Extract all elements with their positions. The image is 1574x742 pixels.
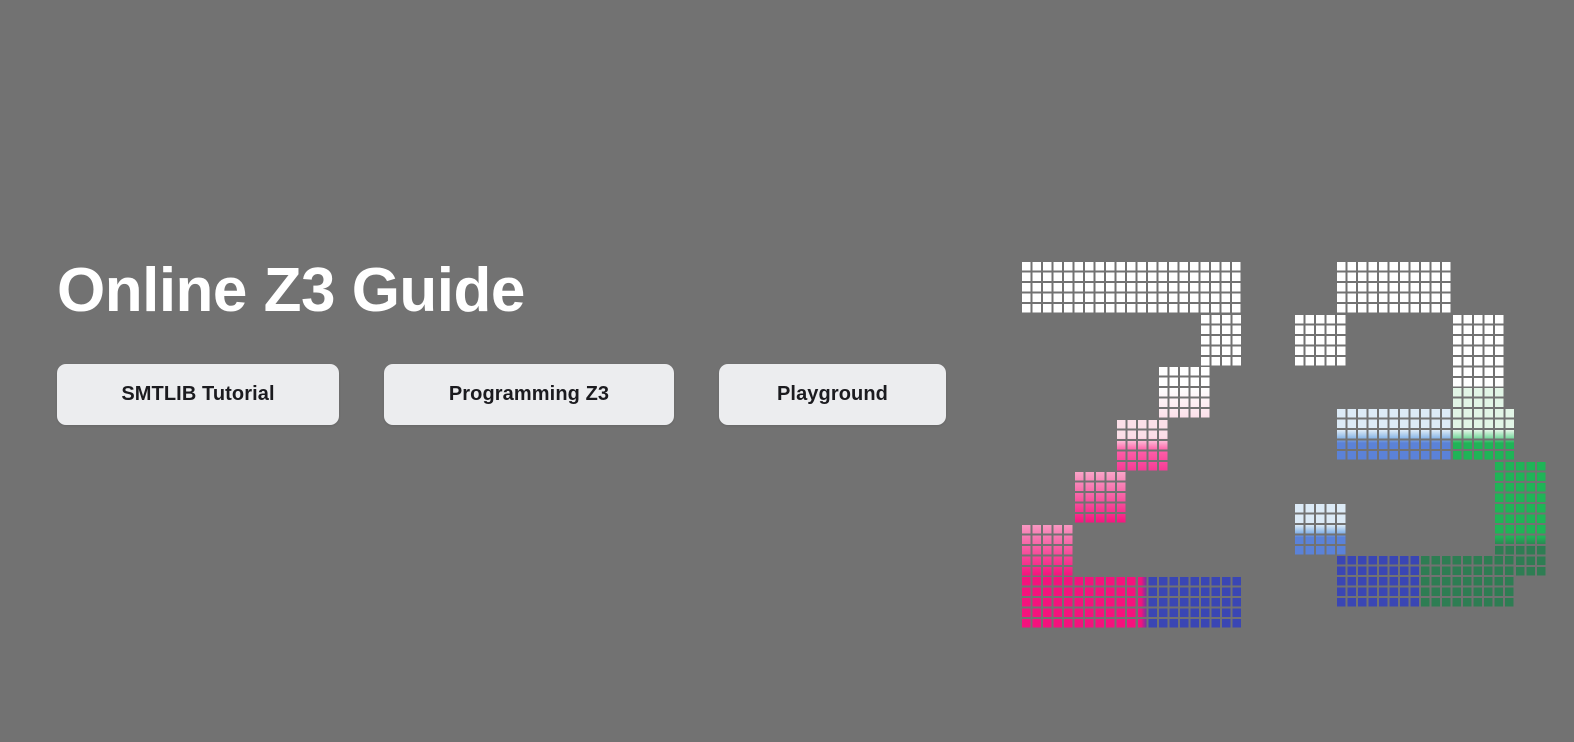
logo-pixel-block <box>1336 261 1452 314</box>
page-title: Online Z3 Guide <box>57 258 957 325</box>
hero-text-block: Online Z3 Guide <box>57 258 957 325</box>
logo-grid-overlay <box>1116 419 1169 472</box>
logo-grid-overlay <box>1336 555 1431 608</box>
logo-grid-overlay <box>1021 576 1137 629</box>
logo-grid-overlay <box>1336 408 1452 461</box>
logo-grid-overlay <box>1336 261 1452 314</box>
logo-pixel-block <box>1074 471 1127 524</box>
logo-pixel-block <box>1336 555 1431 608</box>
logo-pixel-block <box>1294 503 1347 556</box>
logo-pixel-block <box>1021 261 1242 314</box>
logo-grid-overlay <box>1294 503 1347 556</box>
logo-grid-overlay <box>1021 261 1242 314</box>
logo-grid-overlay <box>1200 314 1242 367</box>
logo-pixel-block <box>1452 408 1515 461</box>
logo-pixel-block <box>1200 314 1242 367</box>
logo-grid-overlay <box>1137 576 1242 629</box>
logo-grid-overlay <box>1452 408 1515 461</box>
z3-pixel-logo <box>1021 261 1521 585</box>
programming-z3-button[interactable]: Programming Z3 <box>384 364 674 425</box>
logo-pixel-block <box>1021 524 1074 577</box>
logo-grid-overlay <box>1294 314 1347 367</box>
hero-action-buttons: SMTLIB Tutorial Programming Z3 Playgroun… <box>57 364 946 425</box>
smtlib-tutorial-button[interactable]: SMTLIB Tutorial <box>57 364 339 425</box>
logo-grid-overlay <box>1158 366 1211 419</box>
logo-grid-overlay <box>1420 555 1515 608</box>
logo-grid-overlay <box>1074 471 1127 524</box>
logo-pixel-block <box>1294 314 1347 367</box>
hero-section: Online Z3 Guide SMTLIB Tutorial Programm… <box>0 0 1574 742</box>
logo-pixel-block <box>1420 555 1515 608</box>
logo-pixel-block <box>1137 576 1242 629</box>
playground-button[interactable]: Playground <box>719 364 946 425</box>
logo-pixel-block <box>1158 366 1211 419</box>
logo-pixel-block <box>1116 419 1169 472</box>
logo-pixel-block <box>1021 576 1137 629</box>
logo-grid-overlay <box>1021 524 1074 577</box>
logo-pixel-block <box>1336 408 1452 461</box>
